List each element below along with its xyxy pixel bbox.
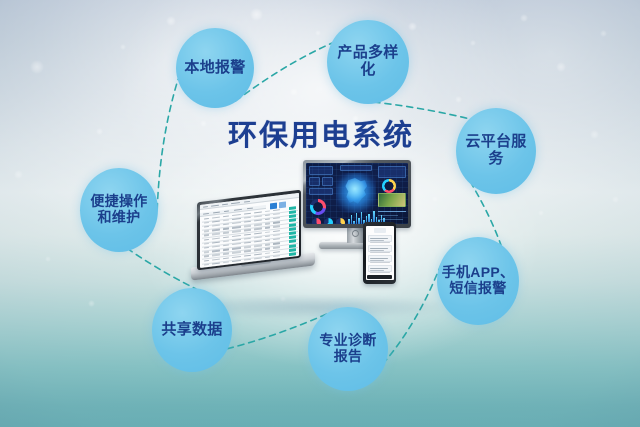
bubble-cloud-platform[interactable]: 云平台服务 [456, 108, 536, 194]
bubble-label-line: 便捷操作 [87, 194, 150, 210]
bubble-shared-data[interactable]: 共享数据 [152, 288, 232, 372]
bubble-label: 共享数据 [158, 322, 225, 339]
bubble-label-line: 本地报警 [181, 60, 248, 77]
bubble-label-line: 手机APP、 [439, 265, 518, 281]
bubble-label: 本地报警 [181, 60, 248, 77]
bubble-label-line: 专业诊断 [316, 333, 379, 349]
poster-canvas: 本地报警产品多样化云平台服务手机APP、短信报警专业诊断报告共享数据便捷操作和维… [0, 0, 640, 427]
bubble-label-line: 和维护 [87, 210, 150, 226]
bubble-label: 产品多样化 [327, 45, 409, 79]
bubble-easy-operation[interactable]: 便捷操作和维护 [80, 168, 158, 252]
bubble-label: 专业诊断报告 [316, 333, 379, 364]
bubble-label-line: 云平台服务 [456, 134, 536, 168]
bubble-local-alarm[interactable]: 本地报警 [176, 28, 254, 108]
bubble-diagnostic-report[interactable]: 专业诊断报告 [308, 307, 388, 391]
bubble-product-diversity[interactable]: 产品多样化 [327, 20, 409, 104]
bubble-label-line: 短信报警 [439, 281, 518, 297]
bubble-label-line: 共享数据 [158, 322, 225, 339]
bubble-label: 云平台服务 [456, 134, 536, 168]
bubble-label: 便捷操作和维护 [87, 194, 150, 225]
bubble-label-line: 报告 [316, 349, 379, 365]
bubble-mobile-app-sms[interactable]: 手机APP、短信报警 [437, 237, 519, 325]
page-title: 环保用电系统 [228, 112, 414, 154]
bubble-label-line: 产品多样化 [327, 45, 409, 79]
bubble-label: 手机APP、短信报警 [439, 265, 518, 296]
